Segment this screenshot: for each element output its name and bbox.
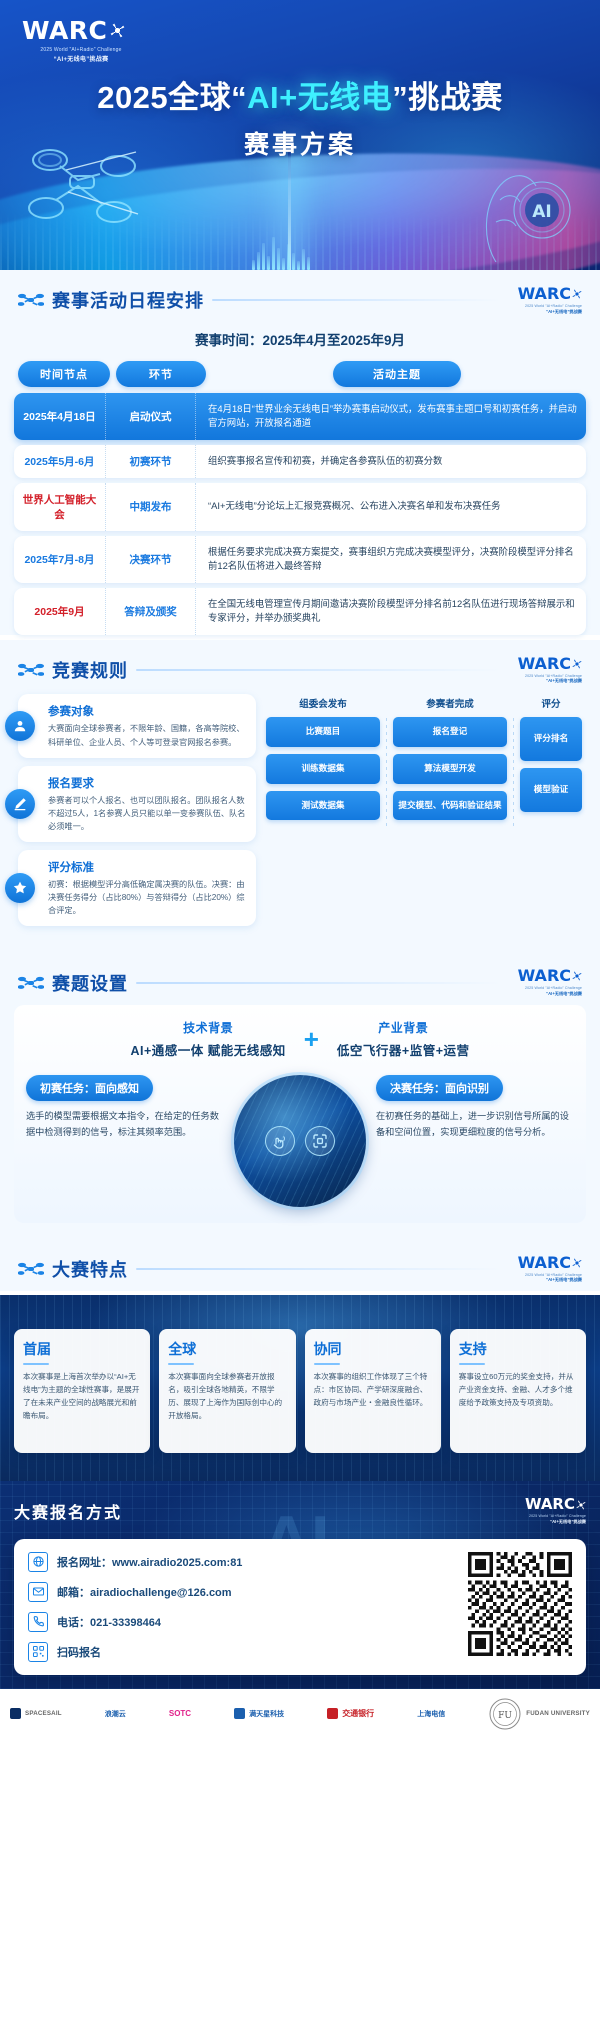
sponsor-name: 满天星科技 <box>249 1709 284 1719</box>
globe-icon <box>28 1552 48 1572</box>
rule-body: 大赛面向全球参赛者，不限年龄、国籍，各高等院校、科研单位、企业人员、个人等可登录… <box>48 722 246 748</box>
feature-title: 支持 <box>459 1339 577 1359</box>
drone-icon <box>26 140 146 228</box>
section-divider <box>136 1268 500 1270</box>
hero-banner: WARC 2025 World "AI+Radio" Challenge “AI… <box>0 0 600 270</box>
cell-time: 2025年7月-8月 <box>14 536 106 583</box>
poster-page: WARC 2025 World "AI+Radio" Challenge “AI… <box>0 0 600 1741</box>
warc-subtitle-en: 2025 World "AI+Radio" Challenge <box>512 1514 586 1518</box>
flow-item: 比赛题目 <box>266 717 380 747</box>
list-item[interactable]: 报名网址：www.airadio2025.com:81 <box>28 1552 458 1572</box>
contact-value: airadiochallenge@126.com <box>90 1587 232 1599</box>
contact-label: 扫码报名 <box>57 1647 101 1659</box>
cell-theme: 组织赛事报名宣传和初赛，并确定各参赛队伍的初赛分数 <box>196 445 586 478</box>
warc-wordmark: WARC <box>512 1497 586 1512</box>
contact-label: 报名网址： <box>57 1557 112 1569</box>
contact-text: 报名网址：www.airadio2025.com:81 <box>57 1554 242 1570</box>
feature-underline <box>23 1363 49 1365</box>
feature-underline <box>459 1363 485 1365</box>
feature-title: 首届 <box>23 1339 141 1359</box>
sponsor-name: SPACESAIL <box>25 1710 62 1717</box>
feature-title: 协同 <box>314 1339 432 1359</box>
hero-quote-open: “ <box>231 80 247 115</box>
topic-orb <box>234 1075 366 1207</box>
sponsor-name: SOTC <box>169 1709 191 1718</box>
warc-logo: WARC 2025 World "AI+Radio" Challenge “AI… <box>22 18 140 63</box>
tech-background: 技术背景 AI+通感一体 赋能无线感知 <box>130 1019 285 1059</box>
drone-icon <box>18 292 44 308</box>
section-title: 竞赛规则 <box>52 657 128 683</box>
list-item: 报名要求 参赛者可以个人报名、也可以团队报名。团队报名人数不超过5人，1名参赛人… <box>18 766 256 842</box>
sponsor-name: FUDAN UNIVERSITY <box>526 1710 590 1717</box>
flow-item: 算法模型开发 <box>393 754 507 784</box>
warc-wordmark: WARC <box>508 1255 582 1271</box>
list-item[interactable]: 扫码报名 <box>28 1642 458 1662</box>
list-item: SPACESAIL <box>10 1708 62 1719</box>
column-header-theme: 活动主题 <box>333 361 461 387</box>
schedule-table-header: 时间节点 环节 活动主题 <box>14 361 586 393</box>
warc-logo: WARC 2025 World "AI+Radio" Challenge “AI… <box>508 656 582 685</box>
warc-subtitle-en: 2025 World "AI+Radio" Challenge <box>508 986 582 990</box>
list-item: 协同 本次赛事的组织工作体现了三个特点：市区协同、产学研深度融合、政府与市场产业… <box>305 1329 441 1453</box>
rule-title: 评分标准 <box>48 859 246 875</box>
flow-column-title: 评分 <box>520 696 582 717</box>
radio-burst-icon <box>572 971 582 981</box>
flow-column-title: 组委会发布 <box>266 696 380 717</box>
contact-card: 报名网址：www.airadio2025.com:81 邮箱：airadioch… <box>14 1539 586 1675</box>
radio-burst-icon <box>572 659 582 669</box>
feature-card-list: 首届 本次赛事是上海首次举办以“AI+无线电”为主题的全球性赛事，是展开了在未来… <box>0 1329 600 1453</box>
flow-item: 评分排名 <box>520 717 582 761</box>
cell-time: 2025年5月-6月 <box>14 445 106 478</box>
list-item: FU FUDAN UNIVERSITY <box>488 1697 590 1731</box>
rules-header: 竞赛规则 WARC 2025 World "AI+Radio" Challeng… <box>14 640 586 693</box>
sponsor-name: 上海电信 <box>417 1709 445 1719</box>
table-row: 2025年9月 答辩及颁奖 在全国无线电管理宣传月期间邀请决赛阶段模型评分排名前… <box>14 588 586 635</box>
list-item[interactable]: 电话：021-33398464 <box>28 1612 458 1632</box>
plus-icon: + <box>304 1026 319 1052</box>
feature-body: 本次赛事面向全球参赛者开放报名，吸引全球各地精英，不限学历、展现了上海作为国际创… <box>168 1371 286 1423</box>
list-item: 支持 赛事设立60万元的奖金支持，并从产业资金支持、金融、人才多个维度给予政策支… <box>450 1329 586 1453</box>
university-seal-icon: FU <box>488 1697 522 1731</box>
section-divider <box>212 299 500 301</box>
radio-burst-icon <box>572 289 582 299</box>
svg-text:FU: FU <box>498 1711 512 1721</box>
flow-item: 测试数据集 <box>266 791 380 821</box>
warc-logo: WARC 2025 World "AI+Radio" Challenge “AI… <box>508 1255 582 1284</box>
schedule-section: 赛事活动日程安排 WARC 2025 World "AI+Radio" Chal… <box>0 270 600 635</box>
event-period: 赛事时间：2025年4月至2025年9月 <box>14 323 586 361</box>
tech-background-text: AI+通感一体 赋能无线感知 <box>130 1040 285 1059</box>
flow-column-title: 参赛者完成 <box>393 696 507 717</box>
warc-logo: WARC 2025 World "AI+Radio" Challenge “AI… <box>508 286 582 315</box>
tech-orb-image <box>234 1075 366 1207</box>
warc-wordmark: WARC <box>508 286 582 302</box>
topic-background-row: 技术背景 AI+通感一体 赋能无线感知 + 产业背景 低空飞行器+监管+运营 <box>26 1019 574 1059</box>
rule-body: 初赛：根据模型评分高低确定属决赛的队伍。决赛：由决赛任务得分（占比80%）与答辩… <box>48 878 246 917</box>
warc-logo: WARC 2025 World "AI+Radio" Challenge “AI… <box>512 1497 586 1525</box>
qr-code-image <box>468 1552 572 1656</box>
rule-card-list: 参赛对象 大赛面向全球参赛者，不限年龄、国籍，各高等院校、科研单位、企业人员、个… <box>18 694 256 934</box>
list-item: 交通银行 <box>327 1708 374 1719</box>
feature-body: 本次赛事的组织工作体现了三个特点：市区协同、产学研深度融合、政府与市场产业・金融… <box>314 1371 432 1410</box>
warc-wordmark-text: WARC <box>518 656 571 672</box>
flow-item: 提交模型、代码和验证结果 <box>393 791 507 821</box>
section-title: 赛事活动日程安排 <box>52 287 204 313</box>
hero-title-prefix: 2025全球 <box>97 80 231 115</box>
sponsor-name: 浪潮云 <box>105 1709 126 1719</box>
preliminary-task: 初赛任务：面向感知 选手的模型需要根据文本指令，在给定的任务数据中检测得到的信号… <box>26 1075 224 1140</box>
scan-frame-icon <box>305 1126 335 1156</box>
feature-underline <box>168 1363 194 1365</box>
list-item: 首届 本次赛事是上海首次举办以“AI+无线电”为主题的全球性赛事，是展开了在未来… <box>14 1329 150 1453</box>
flow-column-participant: 参赛者完成 报名登记 算法模型开发 提交模型、代码和验证结果 <box>393 696 507 827</box>
contact-text: 电话：021-33398464 <box>57 1614 161 1630</box>
column-header-stage: 环节 <box>116 361 206 387</box>
contact-text: 扫码报名 <box>57 1644 101 1660</box>
final-task: 决赛任务：面向识别 在初赛任务的基础上，进一步识别信号所属的设备和空间位置，实现… <box>376 1075 574 1140</box>
hero-quote-close: ” <box>392 80 408 115</box>
qrcode-icon <box>28 1642 48 1662</box>
hero-equalizer-bars <box>252 232 310 270</box>
final-task-tag: 决赛任务：面向识别 <box>376 1075 503 1101</box>
warc-wordmark: WARC <box>508 968 582 984</box>
flow-item: 报名登记 <box>393 717 507 747</box>
list-item: 全球 本次赛事面向全球参赛者开放报名，吸引全球各地精英，不限学历、展现了上海作为… <box>159 1329 295 1453</box>
cell-stage: 决赛环节 <box>106 536 196 583</box>
drone-icon <box>18 662 44 678</box>
contact-list: 报名网址：www.airadio2025.com:81 邮箱：airadioch… <box>28 1552 458 1662</box>
warc-subtitle-en: 2025 World "AI+Radio" Challenge <box>508 304 582 308</box>
ai-face-icon: AI <box>466 144 574 262</box>
warc-subtitle-cn: “AI+无线电”挑战赛 <box>512 1519 586 1525</box>
flow-divider <box>386 718 387 827</box>
sponsor-mark-icon <box>327 1708 338 1719</box>
cell-theme: 在4月18日“世界业余无线电日”举办赛事启动仪式，发布赛事主题口号和初赛任务，并… <box>196 393 586 440</box>
cell-time: 2025年9月 <box>14 588 106 635</box>
contact-label: 邮箱： <box>57 1587 90 1599</box>
list-item: 评分标准 初赛：根据模型评分高低确定属决赛的队伍。决赛：由决赛任务得分（占比80… <box>18 850 256 926</box>
contact-value: www.airadio2025.com:81 <box>112 1557 242 1569</box>
features-section: 大赛特点 WARC 2025 World "AI+Radio" Challeng… <box>0 1239 600 1292</box>
cell-theme: 根据任务要求完成决赛方案提交，赛事组织方完成决赛模型评分，决赛阶段模型评分排名前… <box>196 536 586 583</box>
table-row: 2025年5月-6月 初赛环节 组织赛事报名宣传和初赛，并确定各参赛队伍的初赛分… <box>14 445 586 478</box>
rules-flow-diagram: 组委会发布 比赛题目 训练数据集 测试数据集 参赛者完成 报名登记 算法模型开发… <box>266 694 582 827</box>
industry-background-label: 产业背景 <box>337 1019 470 1036</box>
flow-column-organizer: 组委会发布 比赛题目 训练数据集 测试数据集 <box>266 696 380 827</box>
cell-stage: 启动仪式 <box>106 393 196 440</box>
sponsor-mark-icon <box>234 1708 245 1719</box>
topic-panel: 技术背景 AI+通感一体 赋能无线感知 + 产业背景 低空飞行器+监管+运营 初… <box>14 1005 586 1223</box>
warc-wordmark-text: WARC <box>518 286 571 302</box>
cell-time: 2025年4月18日 <box>14 393 106 440</box>
contact-text: 邮箱：airadiochallenge@126.com <box>57 1584 232 1600</box>
sponsor-name: 交通银行 <box>342 1708 374 1719</box>
list-item[interactable]: 邮箱：airadiochallenge@126.com <box>28 1582 458 1602</box>
hero-title-suffix: 挑战赛 <box>408 80 503 115</box>
cell-theme: “AI+无线电”分论坛上汇报竞赛概况、公布进入决赛名单和发布决赛任务 <box>196 483 586 531</box>
rule-body: 参赛者可以个人报名、也可以团队报名。团队报名人数不超过5人，1名参赛人员只能以单… <box>48 794 246 833</box>
warc-subtitle-cn: “AI+无线电”挑战赛 <box>508 1277 582 1283</box>
flow-item: 训练数据集 <box>266 754 380 784</box>
cell-stage: 答辩及颁奖 <box>106 588 196 635</box>
preliminary-task-text: 选手的模型需要根据文本指令，在给定的任务数据中检测得到的信号，标注其频率范围。 <box>26 1108 224 1140</box>
cell-stage: 初赛环节 <box>106 445 196 478</box>
section-divider <box>136 669 500 671</box>
warc-wordmark-text: WARC <box>518 1255 571 1271</box>
warc-subtitle-en: 2025 World "AI+Radio" Challenge <box>22 47 140 53</box>
hero-title-accent: AI+无线电 <box>247 80 392 115</box>
warc-wordmark-text: WARC <box>518 968 571 984</box>
features-banner: 首届 本次赛事是上海首次举办以“AI+无线电”为主题的全球性赛事，是展开了在未来… <box>0 1295 600 1481</box>
list-item: 浪潮云 <box>105 1709 126 1719</box>
signup-header: 大赛报名方式 WARC 2025 World "AI+Radio" Challe… <box>14 1497 586 1525</box>
warc-wordmark-text: WARC <box>525 1497 575 1512</box>
sponsor-mark-icon <box>10 1708 21 1719</box>
section-divider <box>136 982 500 984</box>
warc-logo: WARC 2025 World "AI+Radio" Challenge “AI… <box>508 968 582 997</box>
signup-title: 大赛报名方式 <box>14 1499 122 1523</box>
flow-column-scoring: 评分 评分排名 模型验证 <box>520 696 582 827</box>
signup-section: AI 大赛报名方式 WARC 2025 World "AI+Radio" Cha… <box>0 1481 600 1689</box>
list-item: SOTC <box>169 1709 191 1718</box>
industry-background: 产业背景 低空飞行器+监管+运营 <box>337 1019 470 1059</box>
drone-icon <box>18 975 44 991</box>
people-icon <box>5 711 35 741</box>
warc-wordmark: WARC <box>22 18 140 43</box>
pen-icon <box>5 789 35 819</box>
rules-section: 竞赛规则 WARC 2025 World "AI+Radio" Challeng… <box>0 640 600 953</box>
section-title: 大赛特点 <box>52 1256 128 1282</box>
hero-title-line1: 2025全球“AI+无线电”挑战赛 <box>0 72 600 117</box>
radio-burst-icon <box>572 1258 582 1268</box>
feature-body: 本次赛事是上海首次举办以“AI+无线电”为主题的全球性赛事，是展开了在未来产业空… <box>23 1371 141 1423</box>
feature-title: 全球 <box>168 1339 286 1359</box>
preliminary-task-tag: 初赛任务：面向感知 <box>26 1075 153 1101</box>
cell-stage: 中期发布 <box>106 483 196 531</box>
tech-background-label: 技术背景 <box>130 1019 285 1036</box>
warc-subtitle-cn: “AI+无线电”挑战赛 <box>508 991 582 997</box>
rule-title: 参赛对象 <box>48 703 246 719</box>
drone-icon <box>18 1261 44 1277</box>
rules-body: 参赛对象 大赛面向全球参赛者，不限年龄、国籍，各高等院校、科研单位、企业人员、个… <box>14 692 586 952</box>
warc-subtitle-cn: “AI+无线电”挑战赛 <box>22 54 140 63</box>
cell-time: 世界人工智能大会 <box>14 483 106 531</box>
schedule-header: 赛事活动日程安排 WARC 2025 World "AI+Radio" Chal… <box>14 270 586 323</box>
table-row: 2025年4月18日 启动仪式 在4月18日“世界业余无线电日”举办赛事启动仪式… <box>14 393 586 440</box>
section-title: 赛题设置 <box>52 970 128 996</box>
rule-title: 报名要求 <box>48 775 246 791</box>
column-header-time: 时间节点 <box>18 361 110 387</box>
list-item: 上海电信 <box>417 1709 445 1719</box>
warc-subtitle-cn: “AI+无线电”挑战赛 <box>508 309 582 315</box>
star-icon <box>5 873 35 903</box>
table-row: 世界人工智能大会 中期发布 “AI+无线电”分论坛上汇报竞赛概况、公布进入决赛名… <box>14 483 586 531</box>
warc-subtitle-cn: “AI+无线电”挑战赛 <box>508 678 582 684</box>
features-header: 大赛特点 WARC 2025 World "AI+Radio" Challeng… <box>14 1239 586 1292</box>
phone-icon <box>28 1612 48 1632</box>
contact-value: 021-33398464 <box>90 1617 161 1629</box>
topic-section: 赛题设置 WARC 2025 World "AI+Radio" Challeng… <box>0 952 600 1005</box>
flow-item: 模型验证 <box>520 768 582 812</box>
feature-underline <box>314 1363 340 1365</box>
radio-burst-icon <box>110 23 125 38</box>
warc-wordmark: WARC <box>508 656 582 672</box>
topic-tasks: 初赛任务：面向感知 选手的模型需要根据文本指令，在给定的任务数据中检测得到的信号… <box>26 1075 574 1207</box>
cell-theme: 在全国无线电管理宣传月期间邀请决赛阶段模型评分排名前12名队伍进行现场答辩展示和… <box>196 588 586 635</box>
final-task-text: 在初赛任务的基础上，进一步识别信号所属的设备和空间位置，实现更细粒度的信号分析。 <box>376 1108 574 1140</box>
schedule-table-body: 2025年4月18日 启动仪式 在4月18日“世界业余无线电日”举办赛事启动仪式… <box>14 393 586 635</box>
sponsor-footer: SPACESAIL 浪潮云 SOTC 满天星科技 交通银行 上海电信 FU FU… <box>0 1689 600 1741</box>
topic-header: 赛题设置 WARC 2025 World "AI+Radio" Challeng… <box>14 952 586 1005</box>
industry-background-text: 低空飞行器+监管+运营 <box>337 1040 470 1059</box>
svg-text:AI: AI <box>532 202 551 222</box>
warc-wordmark-text: WARC <box>22 18 107 43</box>
contact-label: 电话： <box>57 1617 90 1629</box>
table-row: 2025年7月-8月 决赛环节 根据任务要求完成决赛方案提交，赛事组织方完成决赛… <box>14 536 586 583</box>
list-item: 参赛对象 大赛面向全球参赛者，不限年龄、国籍，各高等院校、科研单位、企业人员、个… <box>18 694 256 757</box>
list-item: 满天星科技 <box>234 1708 284 1719</box>
feature-body: 赛事设立60万元的奖金支持，并从产业资金支持、金融、人才多个维度给予政策支持及专… <box>459 1371 577 1410</box>
mail-icon <box>28 1582 48 1602</box>
topic-body: 技术背景 AI+通感一体 赋能无线感知 + 产业背景 低空飞行器+监管+运营 初… <box>0 1005 600 1239</box>
signal-hand-icon <box>265 1126 295 1156</box>
flow-divider <box>513 718 514 827</box>
radio-burst-icon <box>576 1500 586 1510</box>
